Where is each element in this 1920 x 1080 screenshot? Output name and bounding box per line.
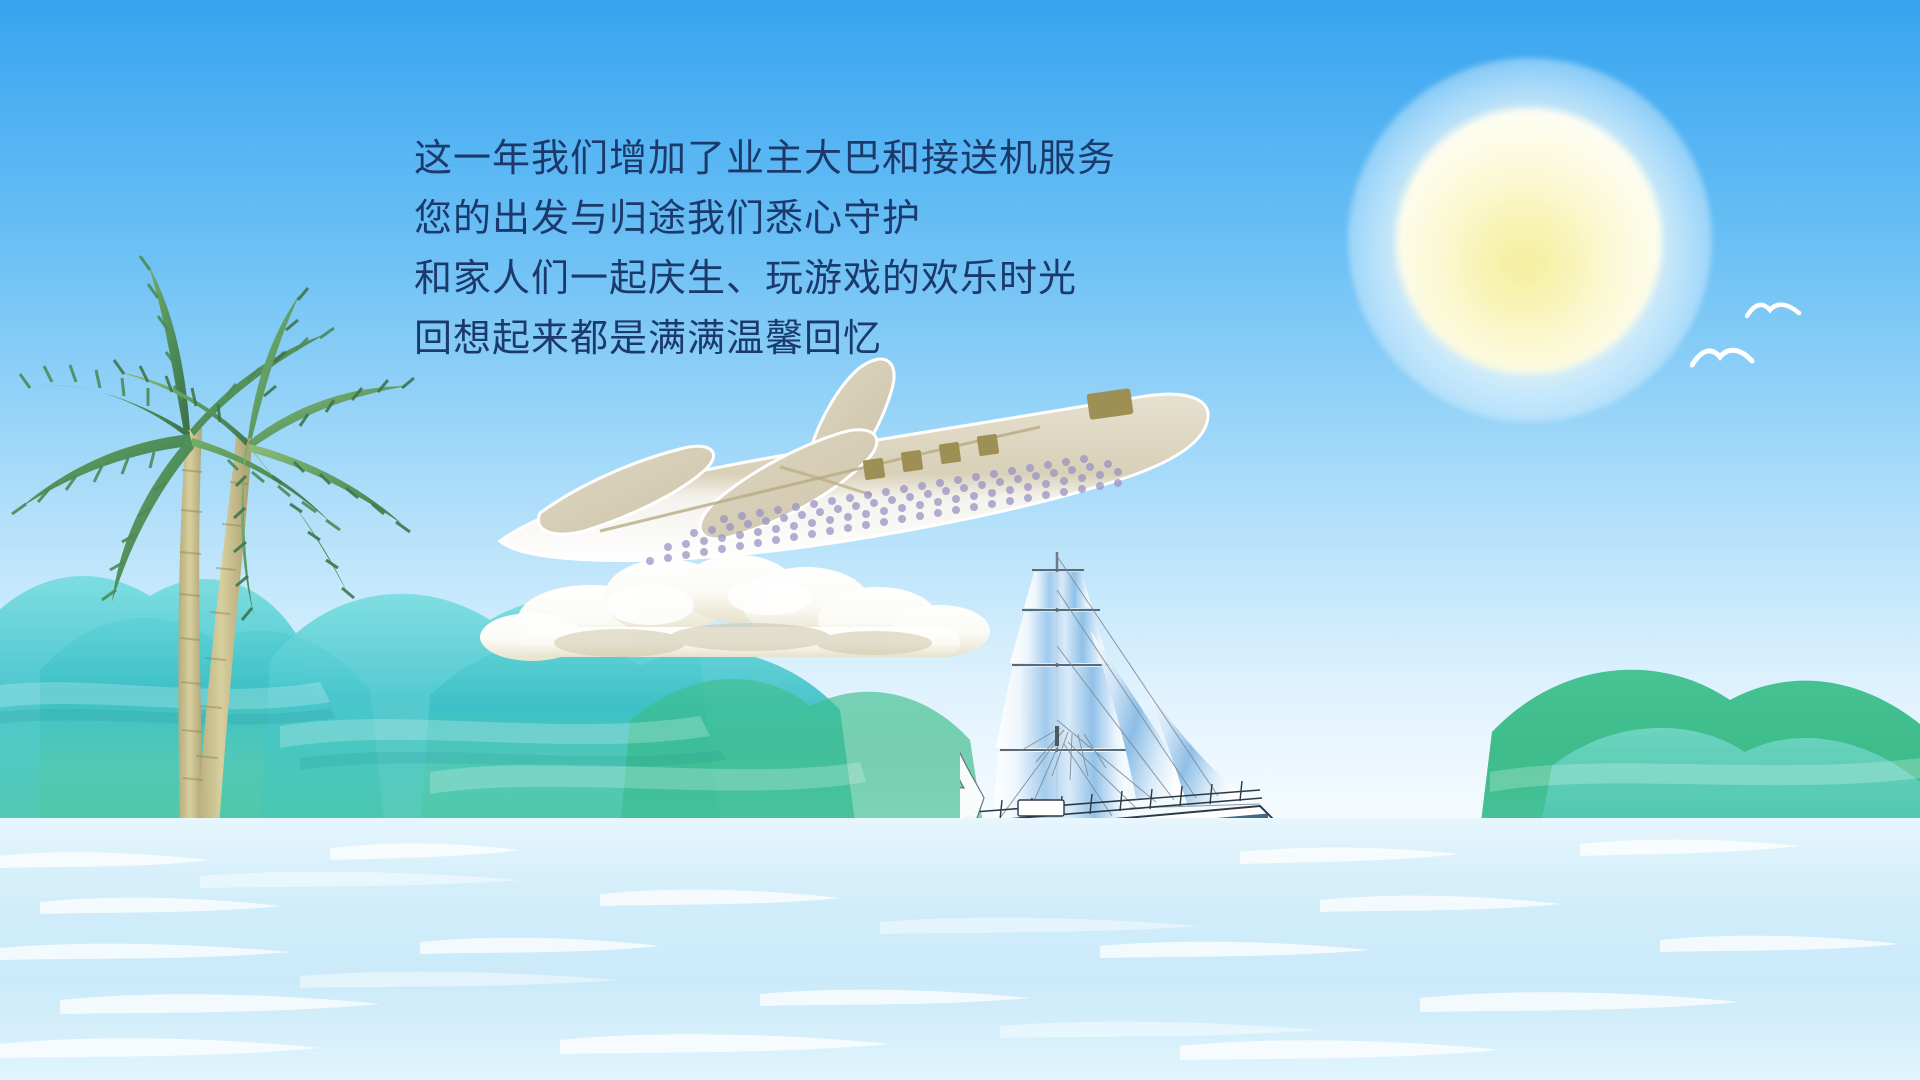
airplane-icon <box>480 355 1220 575</box>
sea-surface <box>0 818 1920 1080</box>
poem-line-3: 和家人们一起庆生、玩游戏的欢乐时光 <box>414 248 1274 308</box>
poem-line-4: 回想起来都是满满温馨回忆 <box>414 308 1274 368</box>
poem-line-1: 这一年我们增加了业主大巴和接送机服务 <box>414 128 1274 188</box>
seagull-icon-2 <box>1745 300 1803 322</box>
palm-trees-icon <box>0 190 420 840</box>
seagull-icon-1 <box>1690 345 1760 371</box>
scene-root: 这一年我们增加了业主大巴和接送机服务 您的出发与归途我们悉心守护 和家人们一起庆… <box>0 0 1920 1080</box>
poem-line-2: 您的出发与归途我们悉心守护 <box>414 188 1274 248</box>
poem-text: 这一年我们增加了业主大巴和接送机服务 您的出发与归途我们悉心守护 和家人们一起庆… <box>414 128 1274 368</box>
sun-icon <box>1396 108 1662 374</box>
